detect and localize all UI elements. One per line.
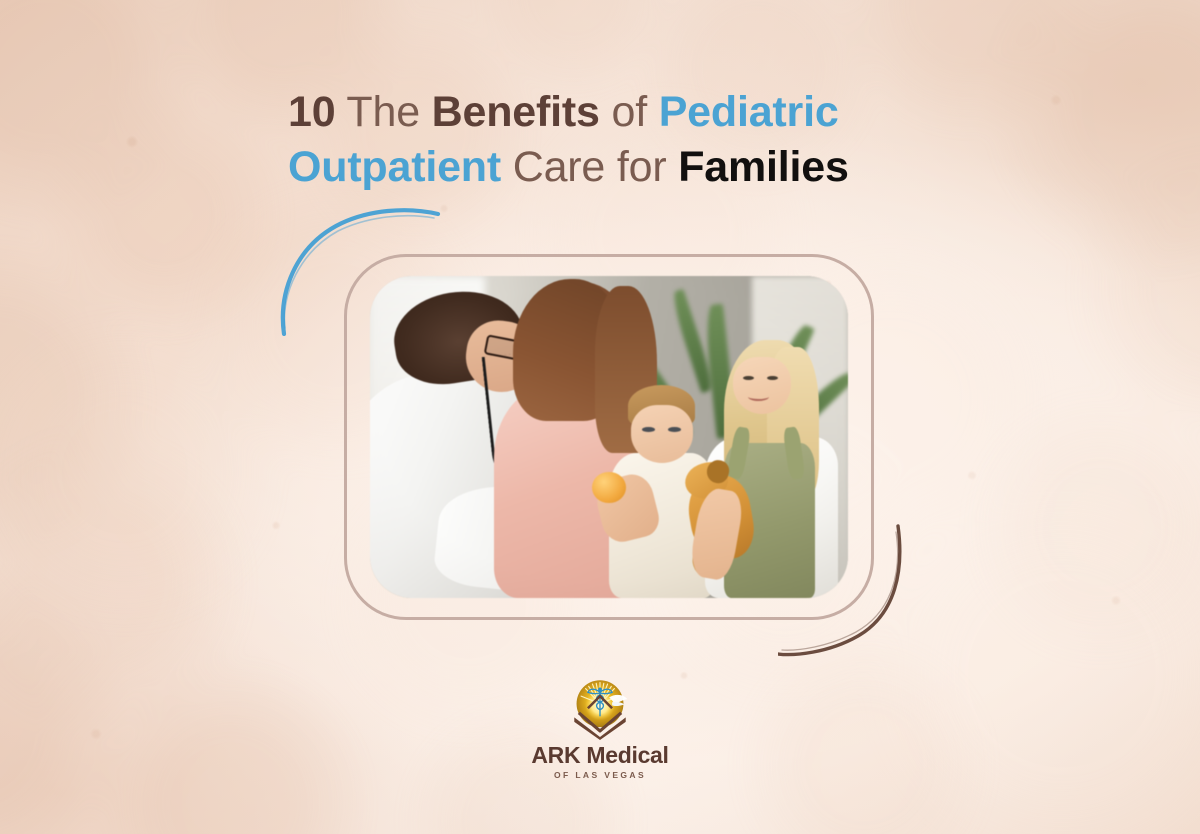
page-title: 10 The Benefits of Pediatric Outpatient … xyxy=(288,85,948,195)
logo-name-part1: ARK xyxy=(531,742,580,768)
headline-word-pediatric: Pediatric xyxy=(659,88,839,136)
headline-word-for: for xyxy=(617,143,667,191)
headline-word-the: The xyxy=(346,88,420,136)
photo-soft-overlay xyxy=(370,276,848,598)
brand-logo: ARK Medical OF LAS VEGAS xyxy=(0,678,1200,780)
poster-canvas: 10 The Benefits of Pediatric Outpatient … xyxy=(0,0,1200,834)
ark-caduceus-dove-emblem-icon xyxy=(562,678,638,740)
logo-wordmark: ARK Medical xyxy=(531,743,668,767)
headline-word-outpatient: Outpatient xyxy=(288,143,501,191)
headline-word-count: 10 xyxy=(288,88,335,136)
hero-photo xyxy=(370,276,848,598)
headline-word-care: Care xyxy=(513,143,605,191)
logo-tagline: OF LAS VEGAS xyxy=(554,770,646,780)
headline-word-families: Families xyxy=(678,143,848,191)
headline-word-of: of xyxy=(611,88,646,136)
headline-line-1: 10 The Benefits of Pediatric xyxy=(288,88,839,136)
headline-word-benefits: Benefits xyxy=(432,88,600,136)
logo-name-part2: Medical xyxy=(586,742,668,768)
headline-line-2: Outpatient Care for Families xyxy=(288,143,849,191)
